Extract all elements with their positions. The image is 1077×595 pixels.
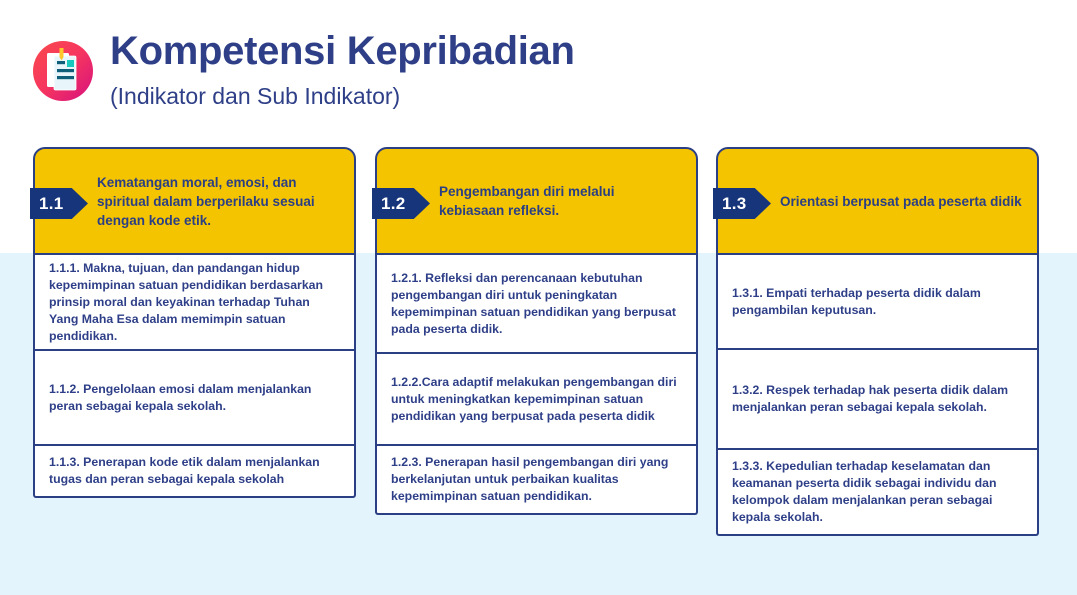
- indicator-heading-card-3: 1.3 Orientasi berpusat pada peserta didi…: [716, 147, 1039, 255]
- indicator-column-3: 1.3 Orientasi berpusat pada peserta didi…: [716, 147, 1039, 536]
- sub-indicator-card: 1.3.3. Kepedulian terhadap keselamatan d…: [716, 450, 1039, 536]
- indicator-column-1: 1.1 Kematangan moral, emosi, dan spiritu…: [33, 147, 356, 498]
- sub-indicator-text: 1.1.2. Pengelolaan emosi dalam menjalank…: [49, 381, 338, 415]
- sub-indicator-text: 1.3.3. Kepedulian terhadap keselamatan d…: [732, 458, 1021, 526]
- sub-indicator-text: 1.2.2.Cara adaptif melakukan pengembanga…: [391, 374, 680, 425]
- indicator-columns: 1.1 Kematangan moral, emosi, dan spiritu…: [0, 0, 1077, 595]
- sub-indicator-card: 1.3.2. Respek terhadap hak peserta didik…: [716, 350, 1039, 450]
- sub-indicator-card: 1.1.1. Makna, tujuan, dan pandangan hidu…: [33, 255, 356, 351]
- sub-indicator-card: 1.3.1. Empati terhadap peserta didik dal…: [716, 255, 1039, 350]
- sub-indicator-card: 1.1.3. Penerapan kode etik dalam menjala…: [33, 446, 356, 498]
- sub-indicator-text: 1.1.1. Makna, tujuan, dan pandangan hidu…: [49, 260, 338, 345]
- sub-indicator-text: 1.3.1. Empati terhadap peserta didik dal…: [732, 285, 1021, 319]
- sub-indicator-text: 1.2.1. Refleksi dan perencanaan kebutuha…: [391, 270, 680, 338]
- sub-indicator-card: 1.2.1. Refleksi dan perencanaan kebutuha…: [375, 255, 698, 354]
- sub-indicator-text: 1.2.3. Penerapan hasil pengembangan diri…: [391, 454, 680, 505]
- sub-indicator-card: 1.2.2.Cara adaptif melakukan pengembanga…: [375, 354, 698, 446]
- indicator-column-2: 1.2 Pengembangan diri melalui kebiasaan …: [375, 147, 698, 515]
- indicator-heading-card-2: 1.2 Pengembangan diri melalui kebiasaan …: [375, 147, 698, 255]
- sub-indicator-text: 1.1.3. Penerapan kode etik dalam menjala…: [49, 454, 338, 488]
- sub-indicator-text: 1.3.2. Respek terhadap hak peserta didik…: [732, 382, 1021, 416]
- sub-indicator-card: 1.1.2. Pengelolaan emosi dalam menjalank…: [33, 351, 356, 446]
- sub-indicator-card: 1.2.3. Penerapan hasil pengembangan diri…: [375, 446, 698, 515]
- indicator-heading-card-1: 1.1 Kematangan moral, emosi, dan spiritu…: [33, 147, 356, 255]
